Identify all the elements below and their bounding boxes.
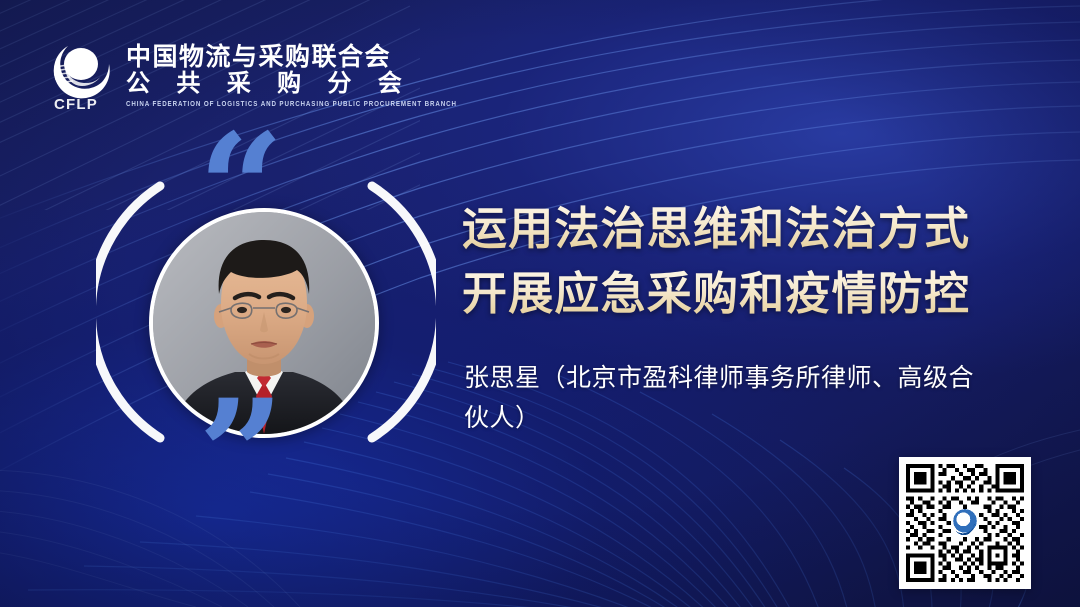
logo-name-cn-secondary: 公 共 采 购 分 会 bbox=[126, 70, 457, 97]
headline-block: 运用法治思维和法治方式 开展应急采购和疫情防控 bbox=[462, 196, 982, 327]
logo-name-cn-primary: 中国物流与采购联合会 bbox=[126, 43, 457, 70]
cflp-globe-icon: CFLP bbox=[48, 34, 116, 114]
quote-close-icon: ” bbox=[198, 380, 284, 530]
logo-name-en: CHINA FEDERATION OF LOGISTICS AND PURCHA… bbox=[126, 100, 457, 108]
speaker-medallion: “ bbox=[96, 142, 436, 482]
wechat-qr-code[interactable] bbox=[899, 457, 1031, 589]
poster-canvas: CFLP 中国物流与采购联合会 公 共 采 购 分 会 CHINA FEDERA… bbox=[0, 0, 1080, 607]
cflp-abbrev-text: CFLP bbox=[54, 96, 98, 113]
speaker-credit: 张思星（北京市盈科律师事务所律师、高级合伙人） bbox=[464, 358, 974, 437]
headline-line-1: 运用法治思维和法治方式 bbox=[462, 196, 982, 261]
qr-matrix bbox=[906, 464, 1024, 582]
logo-wordmark: 中国物流与采购联合会 公 共 采 购 分 会 CHINA FEDERATION … bbox=[126, 41, 457, 107]
headline-line-2: 开展应急采购和疫情防控 bbox=[462, 261, 982, 326]
